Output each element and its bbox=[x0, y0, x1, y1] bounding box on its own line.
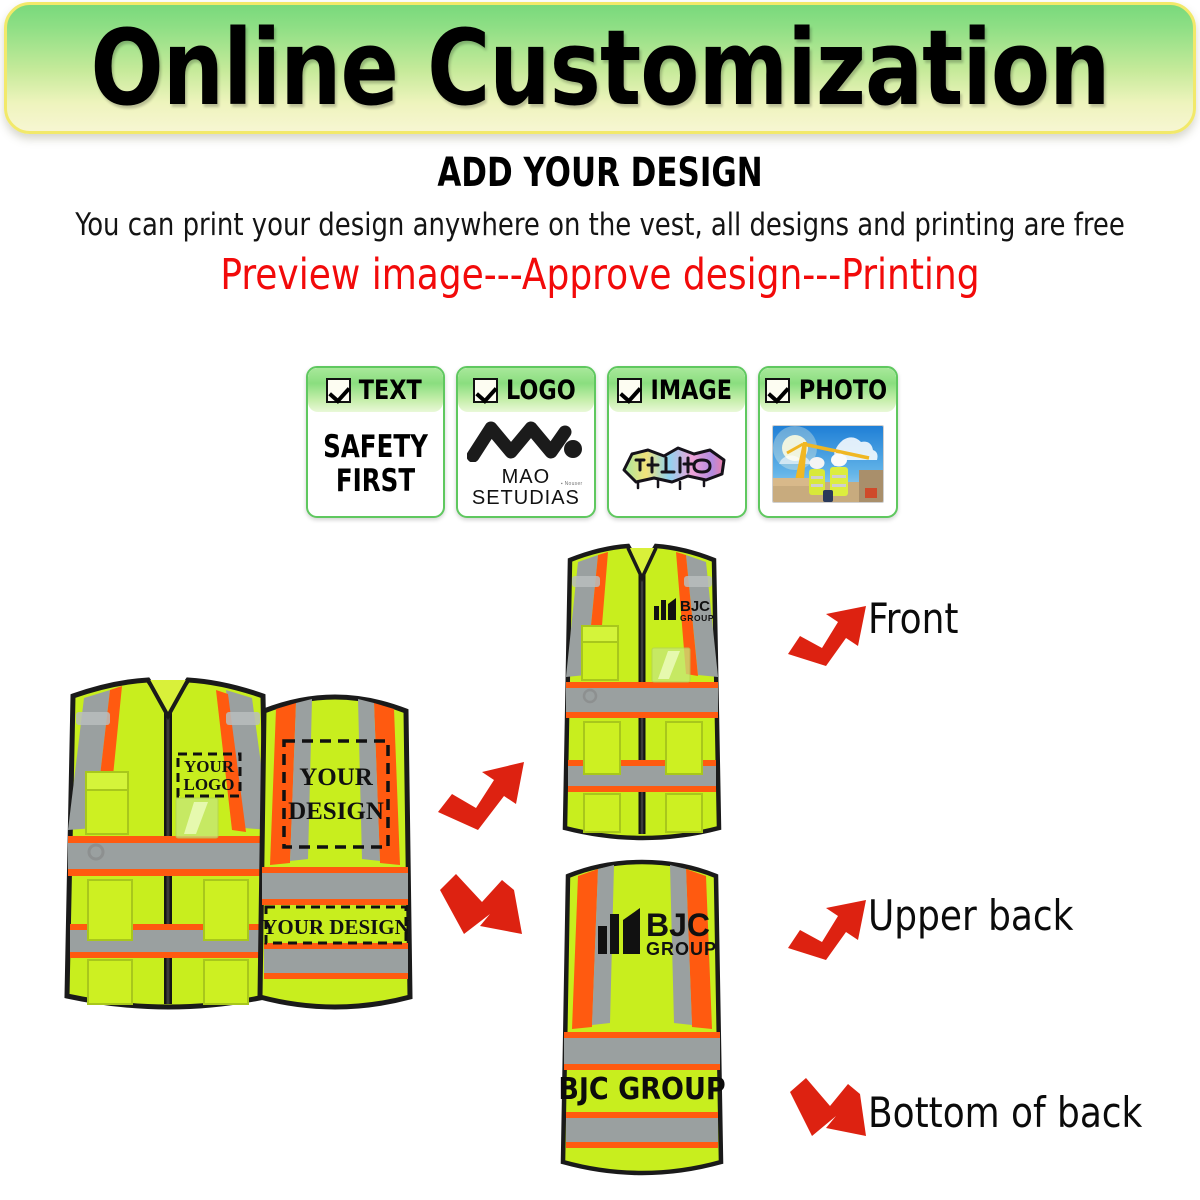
svg-text:DESIGN: DESIGN bbox=[288, 798, 384, 825]
zigzag-m-logo-icon bbox=[467, 420, 585, 462]
callout-arrow-upper-back bbox=[784, 896, 872, 968]
option-card-image-header: IMAGE bbox=[609, 368, 745, 412]
callout-arrow-front bbox=[784, 598, 872, 670]
option-card-logo-body: MAO SETUDIAS ▪ Nouser bbox=[458, 412, 593, 516]
sample-construction-photo bbox=[772, 425, 884, 503]
svg-text:BJC GROUP: BJC GROUP bbox=[558, 1072, 725, 1107]
option-card-logo-label: LOGO bbox=[506, 375, 576, 406]
printed-back-vest: BJC GROUP BJC GROUP bbox=[528, 856, 756, 1192]
svg-text:BJC: BJC bbox=[646, 907, 710, 943]
checkbox-checked-icon bbox=[617, 378, 642, 403]
checkbox-checked-icon bbox=[473, 378, 498, 403]
option-card-logo[interactable]: LOGO MAO SETUDIAS ▪ Nouser bbox=[456, 366, 595, 518]
callout-label-bottom-back: Bottom of back bbox=[868, 1088, 1142, 1137]
checkbox-checked-icon bbox=[326, 378, 351, 403]
option-card-image-body bbox=[609, 412, 745, 516]
sample-graffiti-art bbox=[618, 440, 736, 488]
subtitle-description: You can print your design anywhere on th… bbox=[42, 207, 1158, 243]
option-card-photo-label: PHOTO bbox=[799, 375, 887, 406]
blank-back-vest: YOUR DESIGN YOUR DESIGN bbox=[240, 693, 430, 1023]
option-card-image[interactable]: IMAGE bbox=[607, 366, 747, 518]
option-card-logo-header: LOGO bbox=[458, 368, 593, 412]
subtitle-process: Preview image---Approve design---Printin… bbox=[42, 250, 1158, 300]
vest-illustrations: YOUR LOGO YOUR bbox=[0, 528, 1200, 1200]
sample-text-line2: FIRST bbox=[323, 464, 428, 498]
subtitle-heading: ADD YOUR DESIGN bbox=[84, 150, 1116, 196]
callout-arrow-bottom-back bbox=[784, 1076, 872, 1152]
option-card-image-label: IMAGE bbox=[651, 375, 732, 406]
svg-text:LOGO: LOGO bbox=[183, 775, 234, 794]
svg-text:YOUR: YOUR bbox=[299, 764, 374, 791]
option-card-text-label: TEXT bbox=[359, 375, 422, 406]
sample-logo-tiny-text: ▪ Nouser bbox=[561, 481, 583, 487]
option-card-photo[interactable]: PHOTO bbox=[758, 366, 898, 518]
sample-logo: MAO SETUDIAS ▪ Nouser bbox=[461, 420, 590, 509]
sample-logo-line2: SETUDIAS bbox=[461, 488, 590, 509]
page-root: Online Customization ADD YOUR DESIGN You… bbox=[0, 0, 1200, 1200]
customization-options: TEXT SAFETY FIRST LOGO bbox=[306, 366, 898, 518]
subtitle-block: ADD YOUR DESIGN You can print your desig… bbox=[0, 150, 1200, 300]
page-title: Online Customization bbox=[54, 16, 1145, 120]
option-card-text-header: TEXT bbox=[308, 368, 443, 412]
callout-label-upper-back: Upper back bbox=[868, 891, 1073, 940]
flow-arrow-to-front bbox=[432, 750, 537, 836]
option-card-photo-header: PHOTO bbox=[760, 368, 896, 412]
sample-text: SAFETY FIRST bbox=[323, 430, 428, 498]
option-card-photo-body bbox=[760, 412, 896, 516]
header-banner: Online Customization bbox=[4, 2, 1196, 134]
callout-label-front: Front bbox=[868, 594, 958, 643]
svg-text:YOUR DESIGN: YOUR DESIGN bbox=[262, 915, 410, 939]
printed-front-vest: BJC GROUP bbox=[528, 538, 756, 858]
svg-text:YOUR: YOUR bbox=[184, 757, 235, 776]
option-card-text-body: SAFETY FIRST bbox=[308, 412, 443, 516]
sample-text-line1: SAFETY bbox=[323, 430, 428, 464]
flow-arrow-to-back bbox=[432, 868, 537, 956]
svg-text:GROUP: GROUP bbox=[646, 939, 717, 959]
checkbox-checked-icon bbox=[765, 378, 790, 403]
svg-text:GROUP: GROUP bbox=[680, 613, 714, 623]
option-card-text[interactable]: TEXT SAFETY FIRST bbox=[306, 366, 445, 518]
